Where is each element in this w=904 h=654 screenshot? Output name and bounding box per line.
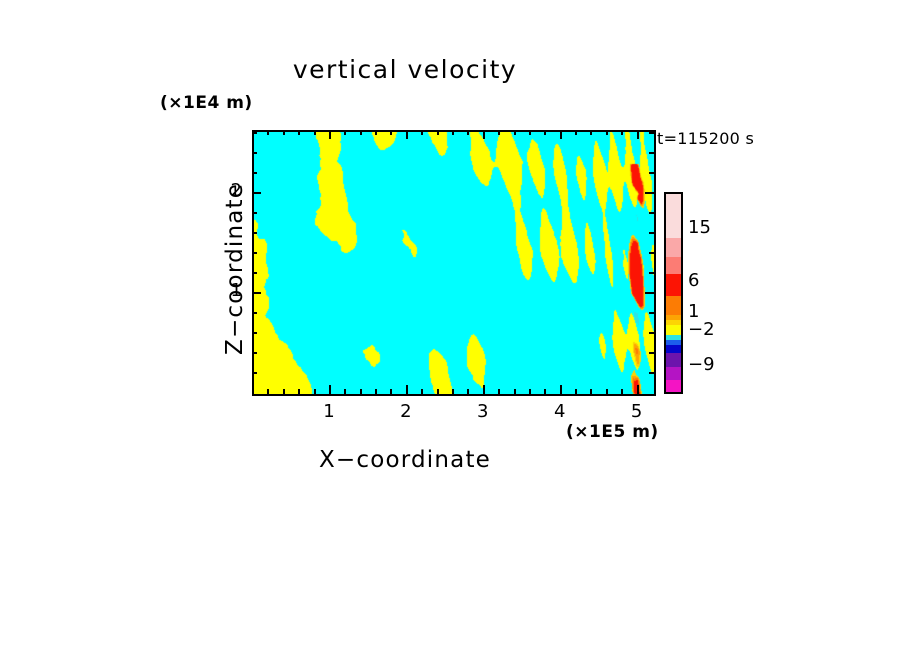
x-minor-tick-top: [314, 130, 316, 135]
y-minor-tick: [252, 212, 257, 214]
x-major-tick-top: [637, 130, 639, 139]
x-minor-tick-top: [283, 130, 285, 135]
y-minor-tick: [252, 152, 257, 154]
x-minor-tick-top: [467, 130, 469, 135]
y-minor-tick-right: [649, 272, 654, 274]
colorbar-tick-label: 15: [688, 217, 711, 238]
x-major-tick: [560, 385, 562, 394]
x-minor-tick: [498, 389, 500, 394]
figure-canvas: vertical velocity (×1E4 m) t=115200 s 12…: [0, 0, 904, 654]
y-minor-tick-right: [649, 172, 654, 174]
x-axis-title-text: X−coordinate: [319, 447, 491, 473]
colorbar-band: [666, 380, 681, 392]
colorbar-tick-label: 6: [688, 270, 699, 291]
x-minor-tick: [575, 389, 577, 394]
y-minor-tick-right: [649, 132, 654, 134]
x-minor-tick-top: [590, 130, 592, 135]
y-axis-unit-label: (×1E4 m): [160, 93, 253, 113]
x-major-tick-top: [483, 130, 485, 139]
y-minor-tick-right: [649, 212, 654, 214]
x-axis-title: X−coordinate: [0, 447, 904, 473]
y-axis-title: Z−coordinate: [222, 183, 248, 355]
x-major-tick-top: [406, 130, 408, 139]
colorbar-band: [666, 345, 681, 353]
x-major-tick-top: [329, 130, 331, 139]
y-minor-tick: [252, 252, 257, 254]
y-major-tick-right: [645, 292, 654, 294]
y-minor-tick-right: [649, 372, 654, 374]
x-minor-tick: [606, 389, 608, 394]
colorbar-band: [666, 367, 681, 380]
y-minor-tick-right: [649, 332, 654, 334]
colorbar-tick-label: −9: [688, 354, 715, 375]
colorbar-tick-label: −2: [688, 319, 715, 340]
chart-title-text: vertical velocity: [293, 55, 517, 84]
y-minor-tick-right: [649, 232, 654, 234]
x-axis-unit-label: (×1E5 m): [566, 422, 659, 442]
x-major-tick: [637, 385, 639, 394]
x-minor-tick-top: [514, 130, 516, 135]
x-minor-tick: [590, 389, 592, 394]
x-tick-label: 5: [617, 401, 657, 422]
colorbar: [664, 192, 683, 394]
y-major-tick: [252, 292, 261, 294]
x-tick-label: 3: [463, 401, 503, 422]
y-minor-tick: [252, 352, 257, 354]
y-major-tick-right: [645, 192, 654, 194]
y-minor-tick-right: [649, 352, 654, 354]
y-minor-tick: [252, 332, 257, 334]
x-minor-tick: [514, 389, 516, 394]
y-minor-tick: [252, 312, 257, 314]
colorbar-band: [666, 353, 681, 367]
colorbar-band: [666, 274, 681, 296]
x-minor-tick-top: [437, 130, 439, 135]
x-major-tick: [406, 385, 408, 394]
x-minor-tick-top: [375, 130, 377, 135]
x-minor-tick-top: [529, 130, 531, 135]
y-minor-tick: [252, 172, 257, 174]
x-minor-tick: [621, 389, 623, 394]
x-minor-tick-top: [498, 130, 500, 135]
x-minor-tick: [437, 389, 439, 394]
x-minor-tick-top: [298, 130, 300, 135]
x-minor-tick-top: [390, 130, 392, 135]
x-minor-tick-top: [575, 130, 577, 135]
x-minor-tick: [529, 389, 531, 394]
colorbar-band: [666, 296, 681, 315]
x-tick-label: 4: [540, 401, 580, 422]
x-minor-tick-top: [267, 130, 269, 135]
x-minor-tick-top: [344, 130, 346, 135]
x-minor-tick: [452, 389, 454, 394]
x-major-tick: [483, 385, 485, 394]
heatmap-canvas: [254, 132, 654, 394]
colorbar-band: [666, 238, 681, 257]
y-minor-tick: [252, 372, 257, 374]
colorbar-band: [666, 194, 681, 238]
x-minor-tick: [544, 389, 546, 394]
y-minor-tick: [252, 232, 257, 234]
x-minor-tick-top: [621, 130, 623, 135]
x-minor-tick-top: [544, 130, 546, 135]
time-annotation: t=115200 s: [657, 129, 754, 148]
x-minor-tick-top: [606, 130, 608, 135]
y-minor-tick-right: [649, 152, 654, 154]
y-minor-tick-right: [649, 312, 654, 314]
x-major-tick: [329, 385, 331, 394]
x-minor-tick-top: [452, 130, 454, 135]
plot-area: [252, 130, 656, 396]
x-minor-tick: [375, 389, 377, 394]
x-major-tick-top: [560, 130, 562, 139]
x-minor-tick: [314, 389, 316, 394]
x-minor-tick-top: [421, 130, 423, 135]
x-minor-tick: [390, 389, 392, 394]
x-minor-tick: [360, 389, 362, 394]
y-minor-tick: [252, 272, 257, 274]
x-minor-tick: [421, 389, 423, 394]
x-minor-tick: [467, 389, 469, 394]
x-minor-tick-top: [360, 130, 362, 135]
x-minor-tick: [283, 389, 285, 394]
y-minor-tick: [252, 132, 257, 134]
y-minor-tick-right: [649, 252, 654, 254]
colorbar-band: [666, 257, 681, 274]
y-major-tick: [252, 192, 261, 194]
x-minor-tick: [298, 389, 300, 394]
chart-title: vertical velocity: [0, 55, 904, 84]
x-tick-label: 1: [309, 401, 349, 422]
x-tick-label: 2: [386, 401, 426, 422]
x-minor-tick: [267, 389, 269, 394]
x-minor-tick: [344, 389, 346, 394]
